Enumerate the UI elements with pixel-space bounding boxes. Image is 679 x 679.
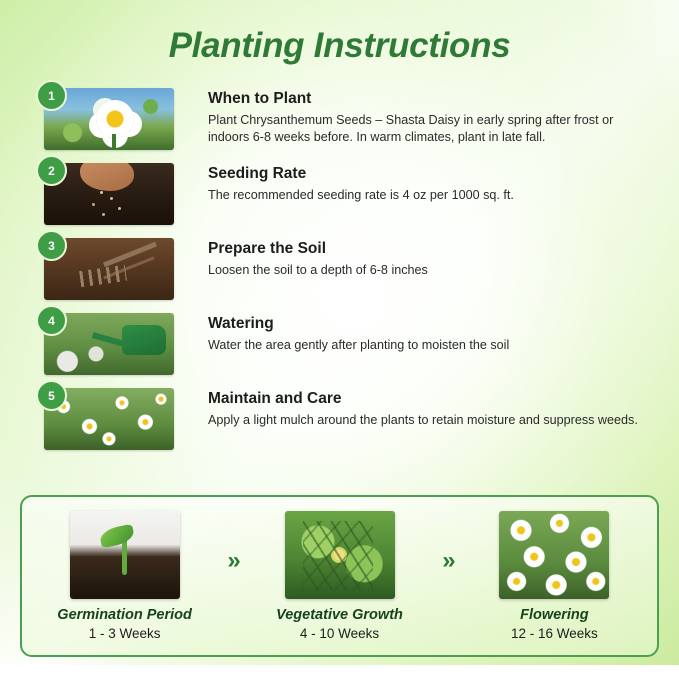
step-number-badge: 2: [36, 155, 67, 186]
step-number-badge: 1: [36, 80, 67, 111]
step-text: Seeding Rate The recommended seeding rat…: [174, 163, 514, 204]
stage-duration: 4 - 10 Weeks: [255, 626, 424, 641]
seedling-sprout-photo: [70, 511, 180, 599]
step-description: Loosen the soil to a depth of 6-8 inches: [208, 262, 428, 279]
growth-timeline-panel: Germination Period 1 - 3 Weeks » Vegetat…: [20, 495, 659, 657]
planting-instructions-infographic: Planting Instructions 1 When to Plant Pl…: [0, 0, 679, 679]
step-title: When to Plant: [208, 90, 638, 108]
page-title: Planting Instructions: [0, 26, 679, 66]
leafy-plant-photo: [285, 511, 395, 599]
arrow-right-icon: »: [209, 511, 255, 575]
step-number-badge: 5: [36, 380, 67, 411]
arrow-right-icon: »: [424, 511, 470, 575]
step-description: Water the area gently after planting to …: [208, 337, 509, 354]
step-description: The recommended seeding rate is 4 oz per…: [208, 187, 514, 204]
step-title: Watering: [208, 315, 509, 333]
step-title: Prepare the Soil: [208, 240, 428, 258]
step-text: When to Plant Plant Chrysanthemum Seeds …: [174, 88, 638, 146]
timeline-stage: Germination Period 1 - 3 Weeks: [40, 511, 209, 641]
step-title: Maintain and Care: [208, 390, 638, 408]
step-item: 2 Seeding Rate The recommended seeding r…: [36, 163, 646, 229]
step-thumb-wrap: 4: [36, 313, 174, 375]
step-item: 5 Maintain and Care Apply a light mulch …: [36, 388, 646, 454]
stage-name: Vegetative Growth: [255, 607, 424, 623]
stage-duration: 1 - 3 Weeks: [40, 626, 209, 641]
timeline-stage: Flowering 12 - 16 Weeks: [470, 511, 639, 641]
step-thumb-wrap: 3: [36, 238, 174, 300]
step-thumb-wrap: 1: [36, 88, 174, 150]
step-thumb-wrap: 2: [36, 163, 174, 225]
timeline-stage: Vegetative Growth 4 - 10 Weeks: [255, 511, 424, 641]
step-item: 1 When to Plant Plant Chrysanthemum Seed…: [36, 88, 646, 154]
blooming-daisies-photo: [499, 511, 609, 599]
step-title: Seeding Rate: [208, 165, 514, 183]
step-item: 4 Watering Water the area gently after p…: [36, 313, 646, 379]
step-item: 3 Prepare the Soil Loosen the soil to a …: [36, 238, 646, 304]
step-thumb-wrap: 5: [36, 388, 174, 450]
step-description: Plant Chrysanthemum Seeds – Shasta Daisy…: [208, 112, 638, 146]
step-text: Prepare the Soil Loosen the soil to a de…: [174, 238, 428, 279]
step-text: Watering Water the area gently after pla…: [174, 313, 509, 354]
stage-name: Germination Period: [40, 607, 209, 623]
step-text: Maintain and Care Apply a light mulch ar…: [174, 388, 638, 429]
step-description: Apply a light mulch around the plants to…: [208, 412, 638, 429]
stage-duration: 12 - 16 Weeks: [470, 626, 639, 641]
steps-list: 1 When to Plant Plant Chrysanthemum Seed…: [36, 88, 646, 463]
stage-name: Flowering: [470, 607, 639, 623]
step-number-badge: 3: [36, 230, 67, 261]
step-number-badge: 4: [36, 305, 67, 336]
